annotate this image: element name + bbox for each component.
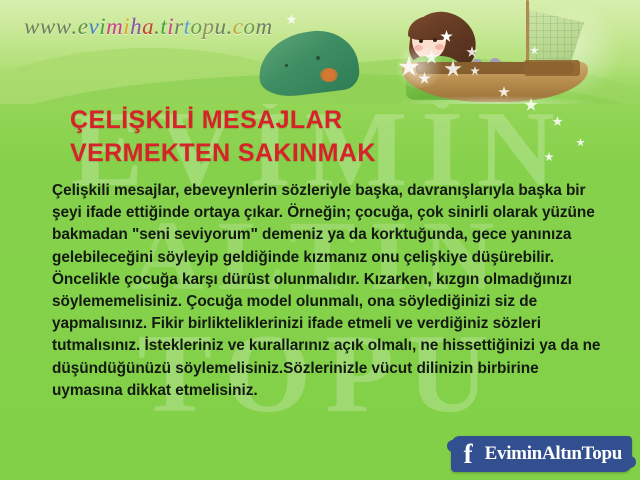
whale-eye [316,56,320,60]
url-watermark-char-20: c [233,14,244,40]
body-paragraph: Çelişkili mesajlar, ebeveynlerin sözleri… [52,180,608,402]
sparkle-glow-1 [392,46,446,88]
facebook-f-icon: f [458,442,479,466]
url-watermark-char-13: i [167,14,174,40]
url-watermark-char-17: p [203,14,215,40]
girl-eye-left [419,39,423,43]
page-title: ÇELİŞKİLİ MESAJLAR VERMEKTEN SAKINMAK [70,104,500,170]
url-watermark-char-22: m [255,14,272,40]
url-watermark-char-1: w [40,14,56,40]
green-whale [258,24,368,98]
url-watermark-char-0: w [24,14,40,40]
url-watermark-char-21: o [243,14,255,40]
url-watermark-char-14: r [174,14,183,40]
girl-blush-right [435,44,444,50]
url-watermark-char-5: v [89,14,100,40]
url-watermark-char-18: u [215,14,227,40]
url-watermark-char-15: t [184,14,191,40]
boat-rail [524,60,580,76]
water-ripple [396,96,596,104]
facebook-page-badge[interactable]: f EviminAltınTopu [451,436,632,472]
url-watermark-char-7: m [106,14,123,40]
url-watermark-char-2: w [56,14,72,40]
whale-cheek-blush [320,68,338,82]
boat-mast [526,0,529,66]
girl-eye-right [433,38,437,42]
url-watermark-char-9: h [130,14,142,40]
url-watermark-char-12: t [160,14,167,40]
page-title-line-2: VERMEKTEN SAKINMAK [70,137,500,170]
facebook-page-name: EviminAltınTopu [485,443,622,465]
url-watermark-char-6: i [99,14,106,40]
page-title-line-1: ÇELİŞKİLİ MESAJLAR [70,104,500,137]
site-url-watermark: www.evimiha.tirtopu.com [24,14,273,40]
whale-spot [285,64,288,67]
url-watermark-char-8: i [123,14,130,40]
poster-canvas: EVİMİN ALTIN TOPU [0,0,640,480]
url-watermark-char-16: o [191,14,203,40]
url-watermark-char-4: e [78,14,89,40]
url-watermark-char-10: a [142,14,154,40]
